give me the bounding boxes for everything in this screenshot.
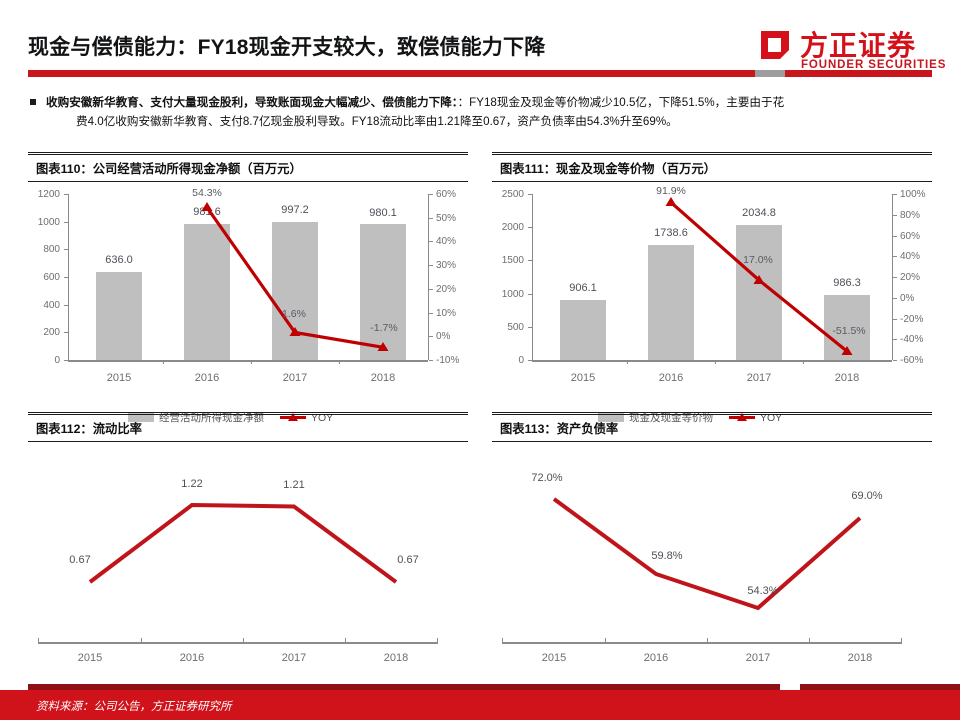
chart-111-xlabel-2015: 2015 (553, 372, 613, 384)
chart-112-label-2015: 0.67 (50, 554, 110, 566)
chart-111-x-axis (532, 360, 892, 362)
chart-113-x-axis (502, 642, 902, 644)
page-title: 现金与偿债能力：FY18现金开支较大，致偿债能力下降 (28, 31, 545, 61)
chart-110-title: 图表110：公司经营活动所得现金净额（百万元） (36, 159, 302, 177)
chart-112-xtick (345, 638, 346, 643)
chart-113-rule-top (492, 412, 932, 415)
chart-110-rtick (429, 218, 433, 219)
chart-112-xlabel-2017: 2017 (264, 652, 324, 664)
chart-111-xlabel-2016: 2016 (641, 372, 701, 384)
slide-root: 现金与偿债能力：FY18现金开支较大，致偿债能力下降 方正证券 FOUNDER … (0, 0, 960, 720)
chart-110-yoy-label-2018: -1.7% (359, 322, 409, 334)
chart-111-rtick (893, 319, 897, 320)
chart-112-xlabel-2018: 2018 (366, 652, 426, 664)
chart-110-right-axis (428, 194, 429, 360)
chart-111-rtick (893, 360, 897, 361)
chart-112-header: 图表112：流动比率 (28, 412, 468, 442)
chart-110-yoy-label-2017: 1.6% (269, 308, 319, 320)
chart-110-y2tick-0: 0% (436, 331, 450, 342)
footer-source-text: 资料来源：公司公告，方正证券研究所 (36, 698, 232, 714)
bullet-bold-lead: 收购安徽新华教育、支付大量现金股利，导致账面现金大幅减少、偿债能力下降： (46, 96, 458, 109)
chart-110-yoy-line (28, 182, 468, 382)
bullet-item: 收购安徽新华教育、支付大量现金股利，导致账面现金大幅减少、偿债能力下降：：FY1… (30, 94, 936, 131)
chart-110-plot: 1200 1000 800 600 400 200 0 636.0 981.6 (28, 182, 468, 402)
chart-110-yoy-label-2016: 54.3% (177, 187, 237, 199)
chart-112-plot: 0.67 1.22 1.21 0.67 2015 2016 2017 2018 (28, 442, 468, 677)
chart-111-rtick (893, 194, 897, 195)
chart-113-xlabel-2018: 2018 (830, 652, 890, 664)
chart-112-xtick (38, 638, 39, 643)
chart-113-label-2018: 69.0% (832, 490, 902, 502)
chart-111-yoy-label-2018: -51.5% (820, 325, 878, 337)
chart-111-xtick (715, 360, 716, 364)
bullet-line-2: 费4.0亿收购安徽新华教育、支付8.7亿现金股利导致。FY18流动比率由1.21… (46, 113, 936, 131)
chart-112-xlabel-2016: 2016 (162, 652, 222, 664)
chart-113-xtick (707, 638, 708, 643)
summary-text-block: 收购安徽新华教育、支付大量现金股利，导致账面现金大幅减少、偿债能力下降：：FY1… (30, 94, 936, 131)
chart-112-x-axis (38, 642, 438, 644)
chart-113-xlabel-2016: 2016 (626, 652, 686, 664)
chart-111-y2tick-neg20: -20% (900, 314, 923, 325)
chart-111-y2tick-neg40: -40% (900, 334, 923, 345)
chart-110-xtick (251, 360, 252, 364)
chart-111-rtick (893, 277, 897, 278)
chart-110-xlabel-2015: 2015 (89, 372, 149, 384)
chart-110-xlabel-2016: 2016 (177, 372, 237, 384)
chart-113-label-2015: 72.0% (512, 472, 582, 484)
chart-111-rtick (893, 298, 897, 299)
chart-110-xlabel-2018: 2018 (353, 372, 413, 384)
chart-110-rtick (429, 194, 433, 195)
chart-110-y2tick-20: 20% (436, 284, 456, 295)
chart-111-yoy-line (492, 182, 932, 382)
chart-111-header: 图表111：现金及现金等价物（百万元） (492, 152, 932, 182)
chart-111-xtick (803, 360, 804, 364)
chart-113-plot: 72.0% 59.8% 54.3% 69.0% 2015 2016 2017 2… (492, 442, 932, 677)
chart-111-yoy-label-2017: 17.0% (730, 254, 786, 266)
chart-111-y2tick-80: 80% (900, 210, 920, 221)
chart-110-rtick (429, 336, 433, 337)
chart-112-line (28, 442, 468, 652)
company-logo: 方正证券 FOUNDER SECURITIES (758, 26, 938, 78)
logo-text-en: FOUNDER SECURITIES (801, 59, 946, 71)
chart-113-xtick (502, 638, 503, 643)
chart-110-rtick (429, 313, 433, 314)
chart-panel-111: 图表111：现金及现金等价物（百万元） 2500 2000 1500 1000 … (492, 152, 932, 402)
chart-112-label-2018: 0.67 (378, 554, 438, 566)
chart-111-yoy-label-2016: 91.9% (641, 185, 701, 197)
chart-112-xlabel-2015: 2015 (60, 652, 120, 664)
chart-panel-113: 图表113：资产负债率 72.0% 59.8% 54.3% 69.0% 2015… (492, 412, 932, 677)
chart-112-xtick (243, 638, 244, 643)
chart-113-xlabel-2017: 2017 (728, 652, 788, 664)
chart-111-xlabel-2018: 2018 (817, 372, 877, 384)
chart-111-rtick (893, 236, 897, 237)
chart-110-rtick (429, 360, 433, 361)
chart-113-xlabel-2015: 2015 (524, 652, 584, 664)
chart-111-plot: 2500 2000 1500 1000 500 0 906.1 1738.6 2… (492, 182, 932, 402)
chart-111-rtick (893, 215, 897, 216)
chart-113-label-2016: 59.8% (632, 550, 702, 562)
chart-111-y2tick-neg60: -60% (900, 355, 923, 366)
chart-111-y2tick-0: 0% (900, 293, 914, 304)
chart-110-y2tick-30: 30% (436, 260, 456, 271)
chart-111-xlabel-2017: 2017 (729, 372, 789, 384)
chart-111-y2tick-40: 40% (900, 251, 920, 262)
bullet-line-1: 收购安徽新华教育、支付大量现金股利，导致账面现金大幅减少、偿债能力下降：：FY1… (46, 94, 936, 112)
chart-110-y2tick-40: 40% (436, 236, 456, 247)
founder-logo-mark-icon (758, 28, 792, 62)
chart-111-rtick (893, 256, 897, 257)
chart-112-label-2017: 1.21 (264, 479, 324, 491)
chart-110-rtick (429, 289, 433, 290)
chart-110-rtick (429, 241, 433, 242)
chart-111-y2tick-100: 100% (900, 189, 926, 200)
chart-110-y2tick-50: 50% (436, 213, 456, 224)
chart-111-rtick (893, 339, 897, 340)
chart-111-y2tick-20: 20% (900, 272, 920, 283)
chart-113-header: 图表113：资产负债率 (492, 412, 932, 442)
chart-110-header: 图表110：公司经营活动所得现金净额（百万元） (28, 152, 468, 182)
chart-112-rule-top (28, 412, 468, 415)
chart-110-y2tick-neg10: -10% (436, 355, 459, 366)
chart-113-xtick (809, 638, 810, 643)
bullet-rest: ：FY18现金及现金等价物减少10.5亿，下降51.5%，主要由于花 (458, 96, 785, 109)
chart-113-label-2017: 54.3% (728, 585, 798, 597)
chart-111-rule-top (492, 152, 932, 155)
chart-112-xtick (141, 638, 142, 643)
logo-text-cn: 方正证券 (800, 24, 916, 64)
chart-110-x-axis (68, 360, 428, 362)
chart-110-y2tick-60: 60% (436, 189, 456, 200)
chart-110-rtick (429, 265, 433, 266)
chart-113-title: 图表113：资产负债率 (500, 419, 618, 437)
chart-112-xtick (437, 638, 438, 643)
chart-111-y2tick-60: 60% (900, 231, 920, 242)
chart-panel-112: 图表112：流动比率 0.67 1.22 1.21 0.67 2015 2016… (28, 412, 468, 677)
chart-112-title: 图表112：流动比率 (36, 419, 142, 437)
chart-panel-110: 图表110：公司经营活动所得现金净额（百万元） 1200 1000 800 60… (28, 152, 468, 402)
chart-113-xtick (901, 638, 902, 643)
chart-112-label-2016: 1.22 (162, 478, 222, 490)
chart-111-xtick (627, 360, 628, 364)
chart-113-xtick (605, 638, 606, 643)
slide-footer: 资料来源：公司公告，方正证券研究所 (0, 684, 960, 720)
chart-110-rule-top (28, 152, 468, 155)
chart-110-xlabel-2017: 2017 (265, 372, 325, 384)
chart-110-y2tick-10: 10% (436, 308, 456, 319)
chart-110-xtick (163, 360, 164, 364)
bullet-square-icon (30, 99, 36, 105)
chart-110-xtick (339, 360, 340, 364)
slide-header: 现金与偿债能力：FY18现金开支较大，致偿债能力下降 方正证券 FOUNDER … (0, 0, 960, 88)
chart-111-title: 图表111：现金及现金等价物（百万元） (500, 159, 716, 177)
